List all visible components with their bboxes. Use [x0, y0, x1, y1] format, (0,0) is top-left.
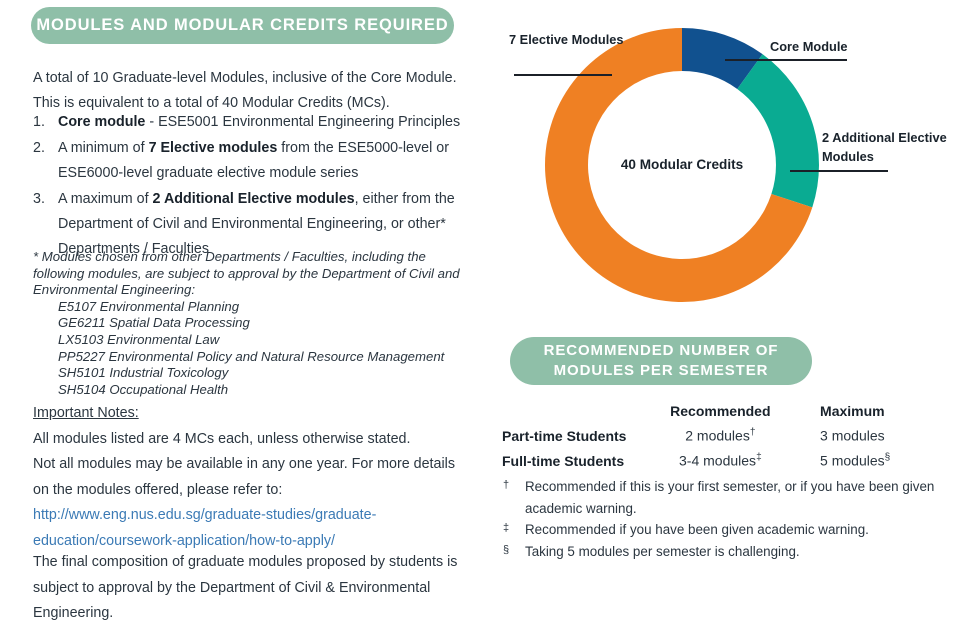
leader-line-additional [790, 170, 888, 172]
footnote-text: Recommended if this is your first semest… [525, 479, 934, 516]
cell-full-time-recommended: 3-4 modules‡ [649, 448, 792, 473]
leader-line-core [725, 59, 847, 61]
cell-part-time-maximum: 3 modules [792, 423, 950, 448]
list-item: § Taking 5 modules per semester is chall… [500, 541, 950, 563]
list-item: 2. A minimum of 7 Elective modules from … [33, 136, 468, 186]
footnote-marker: ‡ [756, 452, 762, 463]
donut-slice [737, 54, 819, 207]
intro-paragraph: A total of 10 Graduate-level Modules, in… [33, 66, 473, 116]
important-notes-block: Important Notes: All modules listed are … [33, 401, 473, 554]
semester-footnotes-list: † Recommended if this is your first seme… [500, 476, 950, 562]
requirements-list: 1. Core module - ESE5001 Environmental E… [33, 110, 468, 263]
asterisk-note-text: * Modules chosen from other Departments … [33, 249, 463, 299]
modules-requirements-panel: MODULES AND MODULAR CREDITS REQUIRED A t… [0, 0, 482, 606]
leader-line-elective [514, 74, 612, 76]
cell-value: 5 modules [820, 453, 885, 469]
list-item: SH5101 Industrial Toxicology [58, 365, 463, 382]
row-label-part-time: Part-time Students [500, 423, 649, 448]
footnote-marker: § [885, 452, 891, 463]
list-item: † Recommended if this is your first seme… [500, 476, 950, 519]
important-notes-title: Important Notes: [33, 401, 473, 427]
donut-label-additional-elective-modules: 2 Additional Elective Modules [822, 128, 962, 166]
footnote-marker: ‡ [503, 518, 509, 540]
table-row: Part-time Students 2 modules† 3 modules [500, 423, 950, 448]
row-label-full-time: Full-time Students [500, 448, 649, 473]
asterisk-footnote-block: * Modules chosen from other Departments … [33, 249, 463, 398]
cell-value: 3 modules [820, 428, 885, 444]
cell-value: 3-4 modules [679, 453, 756, 469]
recommended-modules-table: Recommended Maximum Part-time Students 2… [500, 398, 950, 473]
footnote-marker: † [750, 427, 756, 438]
list-item-bold: Core module [58, 114, 145, 130]
important-notes-line-2: Not all modules may be available in any … [33, 456, 455, 498]
list-item: GE6211 Spatial Data Processing [58, 315, 463, 332]
list-item: PP5227 Environmental Policy and Natural … [58, 349, 463, 366]
modular-credits-donut-chart: 40 Modular Credits 7 Elective Modules Co… [482, 0, 962, 325]
list-item: ‡ Recommended if you have been given aca… [500, 519, 950, 541]
asterisk-module-list: E5107 Environmental Planning GE6211 Spat… [33, 299, 463, 399]
footnote-marker: † [503, 475, 509, 497]
column-header-blank [500, 398, 649, 423]
list-item-pretext: A maximum of [58, 191, 153, 207]
list-item-number: 1. [33, 110, 45, 135]
list-item: SH5104 Occupational Health [58, 382, 463, 399]
list-item-bold: 2 Additional Elective modules [153, 191, 355, 207]
donut-center-label: 40 Modular Credits [602, 157, 762, 172]
chart-and-semester-panel: 40 Modular Credits 7 Elective Modules Co… [482, 0, 962, 606]
final-composition-paragraph: The final composition of graduate module… [33, 550, 473, 627]
column-header-recommended: Recommended [649, 398, 792, 423]
list-item-text: - ESE5001 Environmental Engineering Prin… [145, 114, 460, 130]
list-item-number: 2. [33, 136, 45, 161]
modules-header-banner: MODULES AND MODULAR CREDITS REQUIRED [31, 7, 454, 44]
list-item-bold: 7 Elective modules [149, 140, 278, 156]
donut-label-elective-modules: 7 Elective Modules [509, 30, 629, 49]
table-header-row: Recommended Maximum [500, 398, 950, 423]
footnote-marker: § [503, 540, 509, 562]
cell-full-time-maximum: 5 modules§ [792, 448, 950, 473]
list-item: LX5103 Environmental Law [58, 332, 463, 349]
list-item: 1. Core module - ESE5001 Environmental E… [33, 110, 468, 135]
donut-label-core-module: Core Module [770, 37, 890, 56]
modules-info-link[interactable]: http://www.eng.nus.edu.sg/graduate-studi… [33, 503, 423, 554]
important-notes-line-1: All modules listed are 4 MCs each, unles… [33, 431, 410, 447]
cell-part-time-recommended: 2 modules† [649, 423, 792, 448]
list-item: E5107 Environmental Planning [58, 299, 463, 316]
footnote-text: Recommended if you have been given acade… [525, 522, 869, 537]
list-item-pretext: A minimum of [58, 140, 149, 156]
column-header-maximum: Maximum [792, 398, 950, 423]
table-row: Full-time Students 3-4 modules‡ 5 module… [500, 448, 950, 473]
footnote-text: Taking 5 modules per semester is challen… [525, 544, 800, 559]
list-item-number: 3. [33, 187, 45, 212]
semester-header-banner: RECOMMENDED NUMBER OF MODULES PER SEMEST… [510, 337, 812, 385]
cell-value: 2 modules [685, 428, 750, 444]
